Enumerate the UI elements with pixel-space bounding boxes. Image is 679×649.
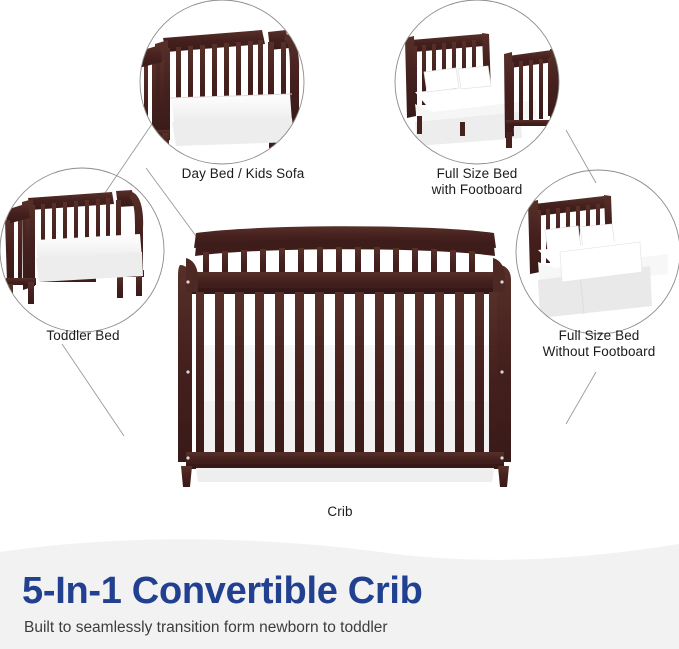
bottom-banner: 5-In-1 Convertible Crib Built to seamles… bbox=[0, 0, 679, 649]
banner-title: 5-In-1 Convertible Crib bbox=[22, 570, 423, 612]
banner-subtitle: Built to seamlessly transition form newb… bbox=[24, 618, 388, 638]
product-infographic: Day Bed / Kids Sofa Full Size Bed with F… bbox=[0, 0, 679, 649]
banner-wave-background bbox=[0, 0, 679, 649]
